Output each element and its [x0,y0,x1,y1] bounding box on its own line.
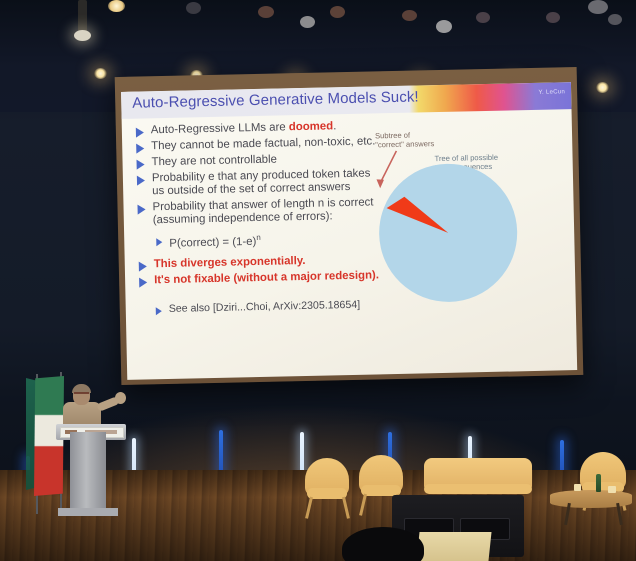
bullet-text-tail: . [333,120,336,132]
bullet-text: This diverges exponentially. [154,255,306,271]
slide-title: Auto-Regressive Generative Models Suck! [132,88,419,111]
bullet-text: It's not fixable (without a major redesi… [154,269,379,286]
water-bottle [596,474,601,492]
slide-body: Auto-Regressive LLMs are doomed. They ca… [122,109,578,380]
bullet-triangle-icon [137,159,145,169]
sofa-seat [424,484,532,494]
lectern-base [58,508,118,516]
formula-text: P(correct) = (1-e)n [169,232,261,250]
formula-body: P(correct) = (1-e) [169,236,256,250]
bullet-triangle-icon [156,307,162,315]
pie-slice-correct-subtree [378,162,519,303]
citation-text: See also [Dziri...Choi, ArXiv:2305.18654… [169,299,361,316]
ceiling-fixture [546,12,560,23]
bullet-triangle-icon [156,238,162,246]
ceiling-fixture [476,12,490,23]
downlight [94,68,107,79]
bullet-triangle-icon [137,204,145,214]
list-item: Auto-Regressive LLMs are doomed. [136,120,337,137]
ceiling-fixture [588,0,608,14]
bullet-triangle-icon [139,261,147,271]
list-item: It's not fixable (without a major redesi… [139,269,379,287]
highlight-doomed: doomed [289,120,334,133]
ceiling-fixture [186,2,201,14]
list-item: Probability that answer of length n is c… [137,196,377,226]
bullet-text: Probability that answer of length n is c… [152,196,377,226]
cup [608,486,616,493]
bullet-text: Auto-Regressive LLMs are doomed. [151,120,337,137]
bullet-text: Probability e that any produced token ta… [152,167,373,197]
speaker-glasses [74,392,89,397]
armchair [303,458,351,518]
stage-spotlight [78,0,87,34]
bullet-triangle-icon [137,175,145,185]
formula-exponent: n [256,233,261,242]
chair-seat [307,488,347,499]
coffee-table [550,490,632,508]
list-item-citation: See also [Dziri...Choi, ArXiv:2305.18654… [156,299,361,316]
bullet-triangle-icon [136,143,144,153]
ceiling-fixture [402,10,417,21]
ceiling-fixture [436,20,452,33]
chair-leg [342,497,350,519]
pie-chart [378,162,519,303]
open-laptop [416,532,491,561]
projection-screen-frame: Auto-Regressive Generative Models Suck! … [115,67,584,385]
bullet-text: They are not controllable [151,154,277,169]
ceiling-light [108,0,125,12]
downlight [596,82,609,93]
projected-slide: Auto-Regressive Generative Models Suck! … [121,82,577,380]
ceiling-fixture [330,6,345,18]
bullet-triangle-icon [136,127,144,137]
list-item: They cannot be made factual, non-toxic, … [136,135,375,153]
list-item: Probability e that any produced token ta… [137,167,373,197]
bullet-triangle-icon [139,277,147,287]
lectern-column [70,432,106,514]
list-item: They are not controllable [136,154,277,170]
photo-scene: Auto-Regressive Generative Models Suck! … [0,0,636,561]
cup [574,484,581,491]
list-item-formula: P(correct) = (1-e)n [156,232,261,251]
ceiling-fixture [608,14,622,25]
bullet-text: They cannot be made factual, non-toxic, … [151,135,375,152]
chair-leg [359,494,367,516]
author-watermark: Y. LeCun [538,89,565,96]
list-item: This diverges exponentially. [139,255,306,272]
bullet-text-lead: Auto-Regressive LLMs are [151,121,289,136]
speaker-hand [115,392,126,404]
ceiling-fixture [300,16,315,28]
stage-spotlight [74,30,91,41]
ceiling-fixture [258,6,274,18]
chair-leg [305,497,313,519]
